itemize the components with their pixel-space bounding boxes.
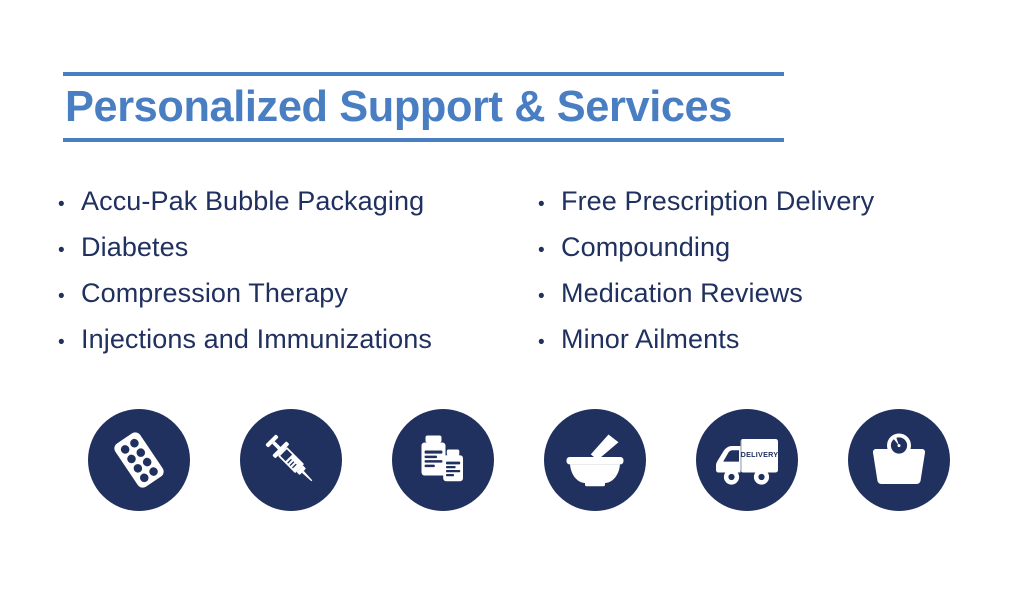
bullet-icon: • xyxy=(58,320,81,366)
bullet-icon: • xyxy=(538,274,561,320)
pill-bottles-icon xyxy=(412,429,474,491)
services-lists: • Accu-Pak Bubble Packaging • Diabetes •… xyxy=(0,178,1025,364)
blister-pack-icon xyxy=(108,429,170,491)
service-label: Medication Reviews xyxy=(561,270,803,316)
service-label: Accu-Pak Bubble Packaging xyxy=(81,178,424,224)
icon-badge-delivery-truck: DELIVERY xyxy=(696,409,798,511)
icon-badge-syringe xyxy=(240,409,342,511)
list-item: • Minor Ailments xyxy=(538,316,874,362)
delivery-truck-icon: DELIVERY xyxy=(713,432,781,488)
service-icon-row: DELIVERY xyxy=(88,409,961,511)
service-label: Minor Ailments xyxy=(561,316,739,362)
bullet-icon: • xyxy=(538,182,561,228)
icon-badge-mortar-pestle xyxy=(544,409,646,511)
list-item: • Accu-Pak Bubble Packaging xyxy=(58,178,432,224)
bullet-icon: • xyxy=(58,228,81,274)
mortar-pestle-icon xyxy=(563,430,627,490)
bullet-icon: • xyxy=(538,320,561,366)
syringe-icon xyxy=(259,428,323,492)
page-title: Personalized Support & Services xyxy=(63,76,773,138)
list-item: • Injections and Immunizations xyxy=(58,316,432,362)
services-column-right: • Free Prescription Delivery • Compoundi… xyxy=(538,178,874,362)
bullet-icon: • xyxy=(58,182,81,228)
service-label: Diabetes xyxy=(81,224,188,270)
bullet-icon: • xyxy=(58,274,81,320)
service-label: Free Prescription Delivery xyxy=(561,178,874,224)
list-item: • Medication Reviews xyxy=(538,270,874,316)
icon-badge-pill-bottles xyxy=(392,409,494,511)
service-label: Compounding xyxy=(561,224,730,270)
truck-delivery-text: DELIVERY xyxy=(741,450,779,459)
icon-badge-weight-scale xyxy=(848,409,950,511)
list-item: • Diabetes xyxy=(58,224,432,270)
list-item: • Compounding xyxy=(538,224,874,270)
weight-scale-icon xyxy=(869,431,929,489)
service-label: Injections and Immunizations xyxy=(81,316,432,362)
list-item: • Free Prescription Delivery xyxy=(538,178,874,224)
heading-block: Personalized Support & Services xyxy=(63,72,784,142)
services-card: Personalized Support & Services • Accu-P… xyxy=(0,0,1025,590)
bullet-icon: • xyxy=(538,228,561,274)
list-item: • Compression Therapy xyxy=(58,270,432,316)
title-rule-bottom xyxy=(63,138,784,142)
icon-badge-blister-pack xyxy=(88,409,190,511)
service-label: Compression Therapy xyxy=(81,270,348,316)
services-column-left: • Accu-Pak Bubble Packaging • Diabetes •… xyxy=(58,178,432,362)
